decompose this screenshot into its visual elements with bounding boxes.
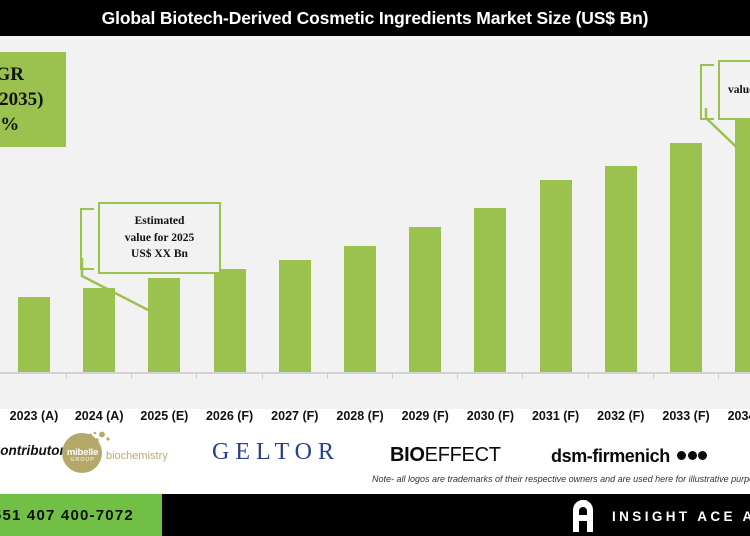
callout-2025-line-3: US$ XX Bn xyxy=(131,246,188,263)
x-axis-label: 2023 (A) xyxy=(0,409,69,423)
axis-tick xyxy=(196,372,197,379)
axis-tick xyxy=(392,372,393,379)
cagr-line-3: XX% xyxy=(0,112,19,137)
callout-2025-box: Estimated value for 2025 US$ XX Bn xyxy=(98,202,221,274)
bar-2031f xyxy=(540,180,572,372)
logo-bioeffect: BIOEFFECT xyxy=(390,444,501,467)
logo-mibelle-group: mibelle GROUP biochemistry xyxy=(62,431,187,475)
bar-2033f xyxy=(670,143,702,372)
x-axis-label: 2033 (F) xyxy=(651,409,721,423)
bar-2023a xyxy=(18,297,50,372)
bar-2032f xyxy=(605,166,637,372)
axis-tick xyxy=(327,372,328,379)
axis-tick xyxy=(66,372,67,379)
bioeffect-bold-part: BIO xyxy=(390,444,425,466)
x-axis-label: 2025 (E) xyxy=(129,409,199,423)
x-axis-line xyxy=(0,372,750,374)
logo-geltor: GELTOR xyxy=(212,439,340,466)
bar-2026f xyxy=(214,269,246,372)
mibelle-bubbles-icon xyxy=(76,431,112,447)
axis-tick xyxy=(588,372,589,379)
callout-2035-line-1: value for 2035 xyxy=(728,82,750,99)
bar-2034f xyxy=(735,115,750,372)
cagr-line-1: CAGR xyxy=(0,62,24,87)
axis-tick xyxy=(457,372,458,379)
callout-2035-box: value for 2035 xyxy=(718,60,750,120)
x-axis-label: 2027 (F) xyxy=(260,409,330,423)
trademark-note: Note- all logos are trademarks of their … xyxy=(372,474,750,484)
footer-phone-block[interactable]: +1 551 407 400-7072 xyxy=(0,494,162,536)
bar-2028f xyxy=(344,246,376,372)
axis-tick xyxy=(131,372,132,379)
bar-2027f xyxy=(279,260,311,372)
callout-2025-line-2: value for 2025 xyxy=(125,230,194,247)
callout-2025-line-1: Estimated xyxy=(135,213,185,230)
dsm-dots-icon xyxy=(676,444,708,465)
cagr-callout-box: CAGR (2025-2035) XX% xyxy=(0,52,66,147)
dsm-wordmark: dsm-firmenich xyxy=(551,446,670,466)
x-axis-label: 2026 (F) xyxy=(195,409,265,423)
footer-phone-number: +1 551 407 400-7072 xyxy=(0,507,134,524)
logo-dsm-firmenich: dsm-firmenich xyxy=(551,444,707,467)
bar-2029f xyxy=(409,227,441,372)
x-axis-label: 2029 (F) xyxy=(390,409,460,423)
callout-2025-bracket xyxy=(80,208,94,270)
axis-tick xyxy=(653,372,654,379)
bar-2024a xyxy=(83,288,115,372)
bioeffect-light-part: EFFECT xyxy=(425,444,501,466)
x-axis-label: 2024 (A) xyxy=(64,409,134,423)
x-axis-label: 2031 (F) xyxy=(521,409,591,423)
axis-tick xyxy=(262,372,263,379)
insightace-brand-name: INSIGHT ACE ANALYTIC xyxy=(612,509,750,524)
mibelle-biochemistry-text: biochemistry xyxy=(106,450,168,462)
x-axis-label: 2032 (F) xyxy=(586,409,656,423)
page-title: Global Biotech-Derived Cosmetic Ingredie… xyxy=(102,8,649,29)
infographic-page: Global Biotech-Derived Cosmetic Ingredie… xyxy=(0,0,750,536)
insightace-a-logo-icon xyxy=(570,500,596,532)
bar-2030f xyxy=(474,208,506,372)
bar-2025e xyxy=(148,278,180,372)
x-axis-label: 2034 (F) xyxy=(716,409,750,423)
x-axis-label: 2028 (F) xyxy=(325,409,395,423)
mibelle-group-text: GROUP xyxy=(64,457,101,463)
axis-tick xyxy=(522,372,523,379)
title-banner: Global Biotech-Derived Cosmetic Ingredie… xyxy=(0,0,750,36)
callout-2035-bracket xyxy=(700,64,714,120)
axis-tick xyxy=(718,372,719,379)
cagr-line-2: (2025-2035) xyxy=(0,87,43,112)
x-axis-label: 2030 (F) xyxy=(455,409,525,423)
